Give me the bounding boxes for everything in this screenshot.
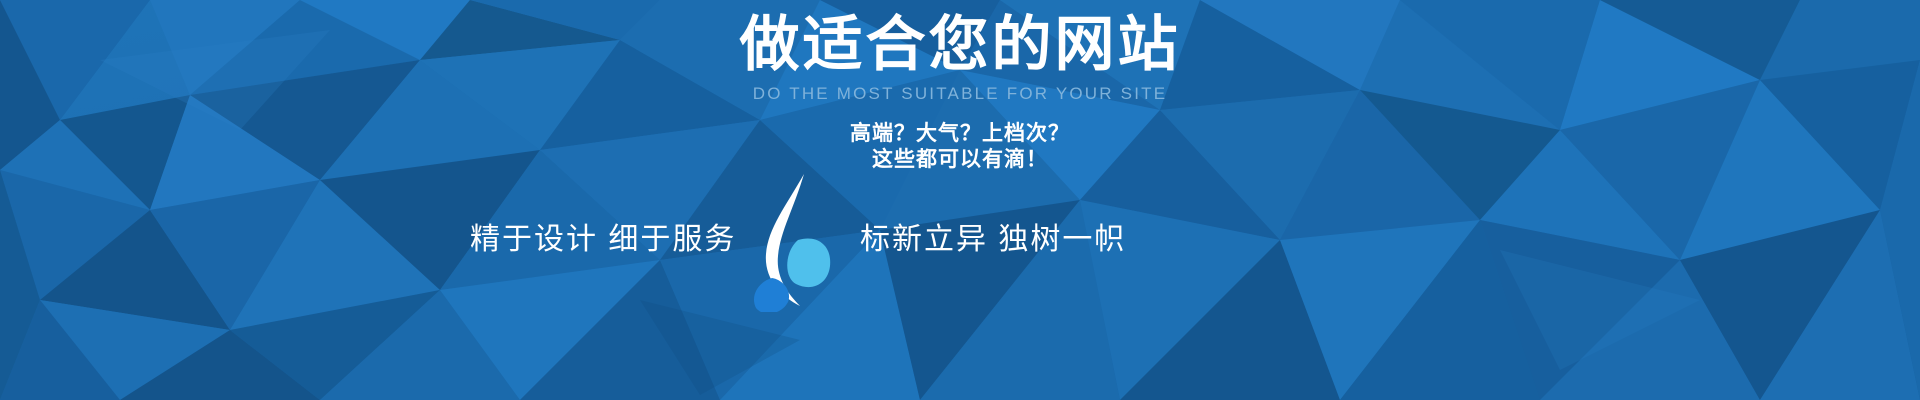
page-subtitle-english: DO THE MOST SUITABLE FOR YOUR SITE [0, 84, 1920, 104]
hero-banner: 做适合您的网站 DO THE MOST SUITABLE FOR YOUR SI… [0, 0, 1920, 400]
tagline-right: 标新立异 独树一帜 [860, 220, 1126, 260]
leaf-swoosh-logo [742, 172, 852, 312]
tagline-left: 精于设计 细于服务 [470, 220, 736, 260]
page-title: 做适合您的网站 [0, 9, 1920, 81]
sub-heading-line-1: 高端？大气？上档次？ [0, 120, 1920, 147]
banner-content: 做适合您的网站 DO THE MOST SUITABLE FOR YOUR SI… [0, 0, 1920, 400]
sub-heading-line-2: 这些都可以有滴！ [0, 146, 1920, 173]
